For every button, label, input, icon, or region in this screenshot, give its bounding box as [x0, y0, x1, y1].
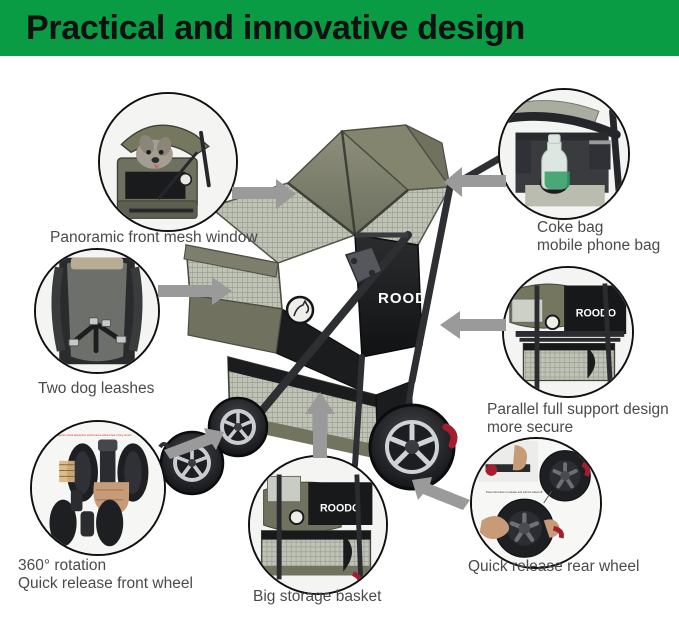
arrow-to-product-5: [444, 166, 506, 200]
callout-360-rotation-quick-release-front-wheel: Superior shock absorption performance wi…: [30, 420, 166, 556]
callout-inset-note-front-wheel: Superior shock absorption performance wi…: [56, 434, 131, 438]
callout-image-rear-organizer-bag: [500, 90, 628, 218]
callout-image-rear-wheel-removal: [472, 439, 600, 567]
callout-parallel-full-support-design: ROODO: [502, 266, 634, 398]
callout-image-stroller-interior-leashes: [36, 250, 158, 372]
page-header-banner: Practical and innovative design: [0, 0, 679, 56]
page-title: Practical and innovative design: [26, 11, 525, 45]
callout-label-quick-release-rear-wheel: Quick release rear wheel: [468, 558, 639, 575]
callout-label-panoramic-front-mesh-window: Panoramic front mesh window: [50, 229, 258, 246]
arrow-to-product-7: [408, 474, 470, 510]
callout-label-360-rotation-quick-release-front-wheel: 360° rotation Quick release front wheel: [18, 557, 193, 593]
callout-coke-bag-mobile-phone-bag: [498, 88, 630, 220]
arrow-to-product-3: [164, 428, 226, 462]
callout-two-dog-leashes: [34, 248, 160, 374]
callout-label-parallel-full-support-design: Parallel full support design more secure: [487, 401, 669, 437]
callout-quick-release-rear-wheel: Press the button to release and pull the…: [470, 437, 602, 569]
callout-inset-note-rear-wheel: Press the button to release and pull the…: [486, 491, 542, 495]
arrow-to-product-4: [304, 392, 338, 458]
callout-image-dog-in-stroller: [100, 94, 236, 230]
svg-text:ROODO: ROODO: [320, 502, 360, 514]
arrow-to-product-2: [158, 276, 234, 308]
callout-label-two-dog-leashes: Two dog leashes: [38, 380, 154, 397]
callout-label-coke-bag-mobile-phone-bag: Coke bag mobile phone bag: [537, 219, 660, 255]
callout-big-storage-basket: ROODO: [248, 455, 388, 595]
arrow-to-product-6: [440, 310, 506, 342]
svg-text:ROODO: ROODO: [576, 307, 616, 319]
callout-panoramic-front-mesh-window: [98, 92, 238, 232]
callout-image-front-wheel-removal: [32, 422, 164, 554]
arrow-to-product-1: [232, 178, 298, 212]
callout-image-parallel-support-frame: ROODO: [504, 268, 632, 396]
callout-label-big-storage-basket: Big storage basket: [253, 588, 381, 605]
callout-image-storage-basket: ROODO: [250, 457, 386, 593]
